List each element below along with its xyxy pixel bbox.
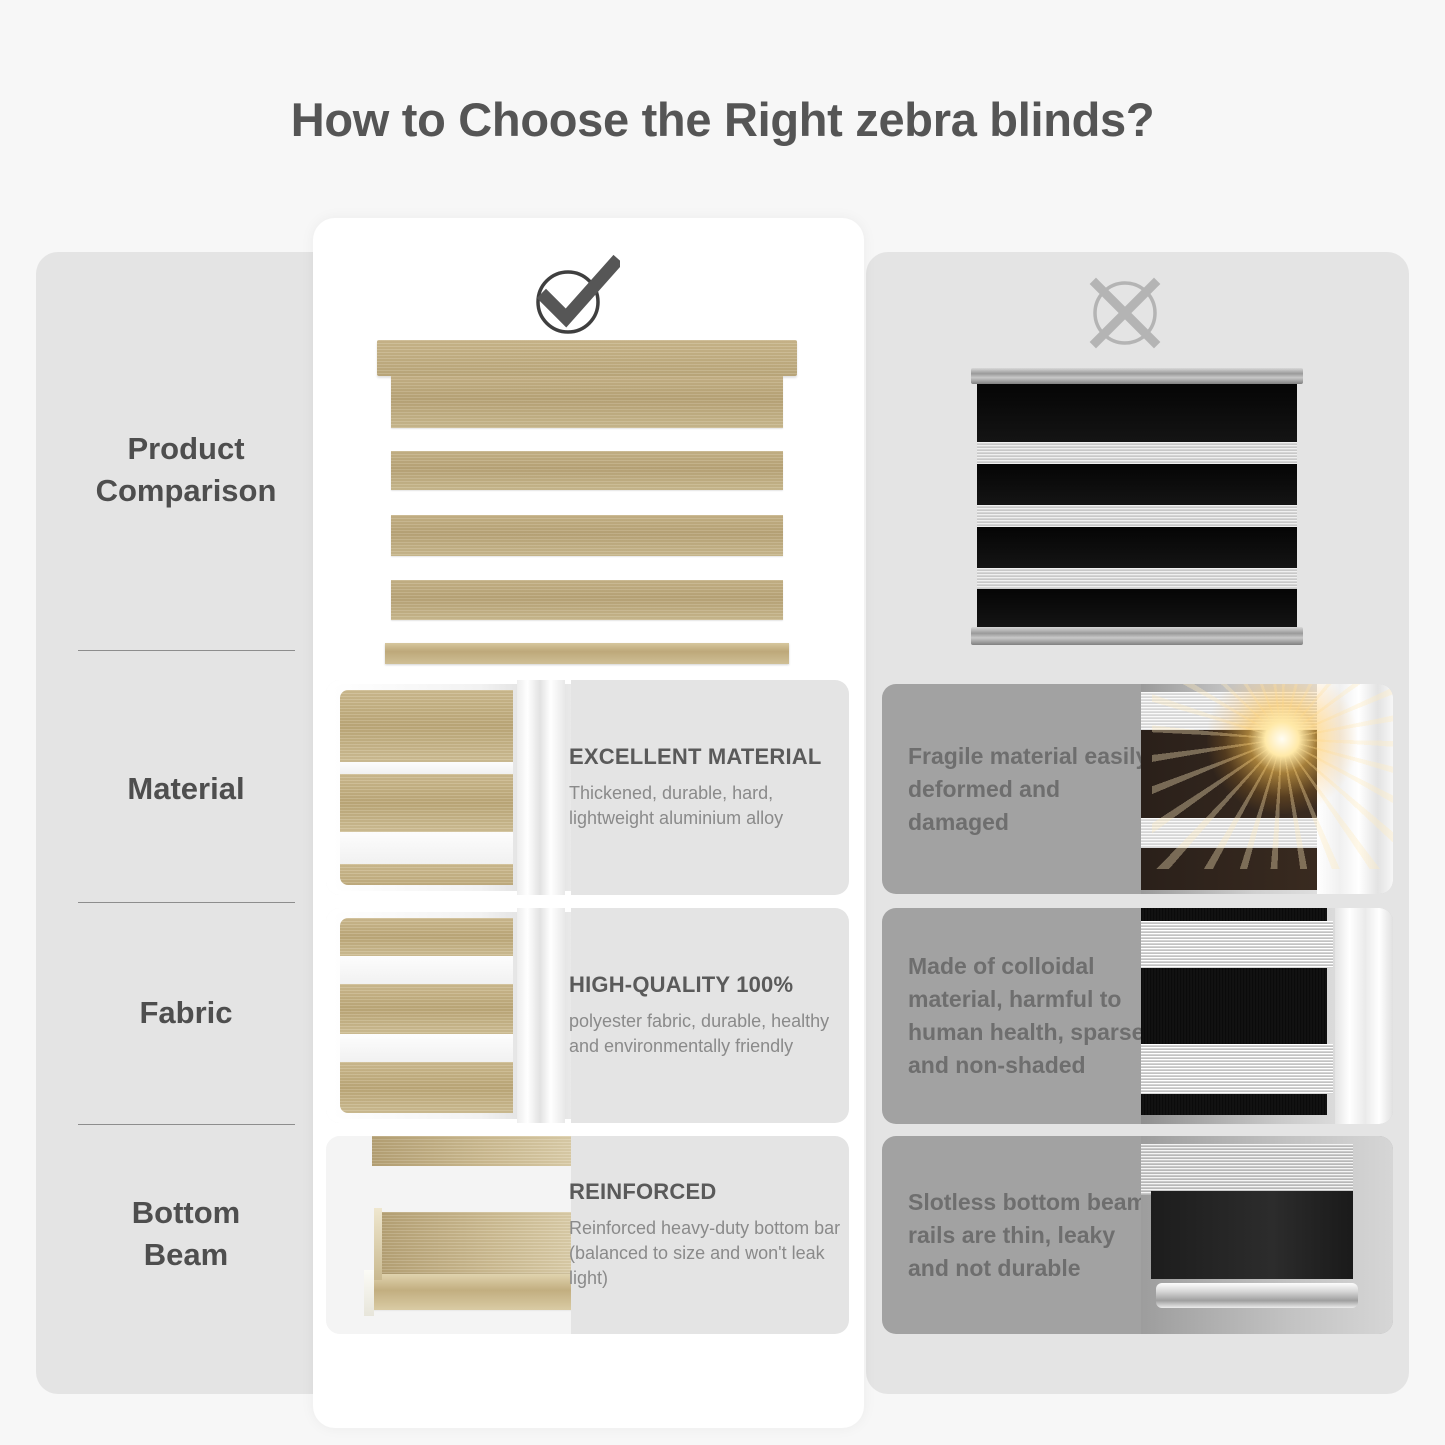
row-label-line2: Comparison	[60, 470, 312, 512]
feature-card-good-bottom-beam: REINFORCED Reinforced heavy-duty bottom …	[326, 1136, 849, 1334]
feature-text-bad-bottom-beam: Slotless bottom beam rails are thin, lea…	[908, 1136, 1153, 1334]
feature-heading: HIGH-QUALITY 100%	[569, 972, 841, 998]
blind-band-opaque	[977, 589, 1297, 627]
blind-band-sheer	[977, 505, 1297, 527]
feature-body: Thickened, durable, hard, lightweight al…	[569, 781, 841, 831]
row-label-line1: Fabric	[60, 992, 312, 1034]
blind-band-opaque	[977, 384, 1297, 442]
row-label-bottom-beam: Bottom Beam	[60, 1192, 312, 1276]
feature-text-bad-material: Fragile material easily deformed and dam…	[908, 684, 1153, 894]
feature-body: Reinforced heavy-duty bottom bar (balanc…	[569, 1216, 841, 1291]
feature-card-good-material: EXCELLENT MATERIAL Thickened, durable, h…	[326, 680, 849, 895]
feature-image-good-material	[326, 680, 571, 895]
feature-image-bad-fabric	[1141, 908, 1393, 1124]
feature-card-bad-fabric: Made of colloidal material, harmful to h…	[882, 908, 1393, 1124]
headrail	[971, 368, 1303, 384]
feature-heading: REINFORCED	[569, 1179, 841, 1205]
bottom-bar	[385, 643, 789, 664]
hero-image-bad-product	[963, 368, 1313, 651]
row-divider-1	[78, 650, 295, 651]
cross-circle-icon	[1080, 270, 1170, 356]
row-label-product-comparison: Product Comparison	[60, 428, 312, 512]
page-title: How to Choose the Right zebra blinds?	[0, 92, 1445, 147]
row-label-material: Material	[60, 768, 312, 810]
headrail	[377, 340, 797, 376]
blind-band-sheer	[977, 442, 1297, 464]
hero-image-good-product	[377, 340, 797, 665]
blind-slat	[391, 515, 783, 556]
row-label-line1: Product	[60, 428, 312, 470]
blind-slat	[391, 451, 783, 490]
blind-band-sheer	[977, 568, 1297, 589]
feature-card-bad-material: Fragile material easily deformed and dam…	[882, 684, 1393, 894]
row-label-fabric: Fabric	[60, 992, 312, 1034]
blind-slat	[391, 376, 783, 428]
blind-slat	[391, 580, 783, 620]
check-circle-icon	[528, 252, 620, 338]
feature-body: polyester fabric, durable, healthy and e…	[569, 1009, 841, 1059]
feature-heading: EXCELLENT MATERIAL	[569, 744, 841, 770]
row-label-line1: Bottom	[60, 1192, 312, 1234]
blind-band-opaque	[977, 464, 1297, 505]
feature-card-good-fabric: HIGH-QUALITY 100% polyester fabric, dura…	[326, 908, 849, 1123]
feature-card-bad-bottom-beam: Slotless bottom beam rails are thin, lea…	[882, 1136, 1393, 1334]
feature-image-good-fabric	[326, 908, 571, 1123]
feature-image-good-bottom-beam	[326, 1136, 571, 1334]
row-divider-2	[78, 902, 295, 903]
blind-band-opaque	[977, 527, 1297, 568]
row-label-column: Product Comparison Material Fabric Botto…	[60, 252, 312, 1394]
feature-image-bad-bottom-beam	[1141, 1136, 1393, 1334]
feature-image-bad-material	[1141, 684, 1393, 894]
bottom-rail	[971, 627, 1303, 645]
row-label-line1: Material	[60, 768, 312, 810]
row-divider-3	[78, 1124, 295, 1125]
row-label-line2: Beam	[60, 1234, 312, 1276]
feature-text-bad-fabric: Made of colloidal material, harmful to h…	[908, 908, 1153, 1124]
